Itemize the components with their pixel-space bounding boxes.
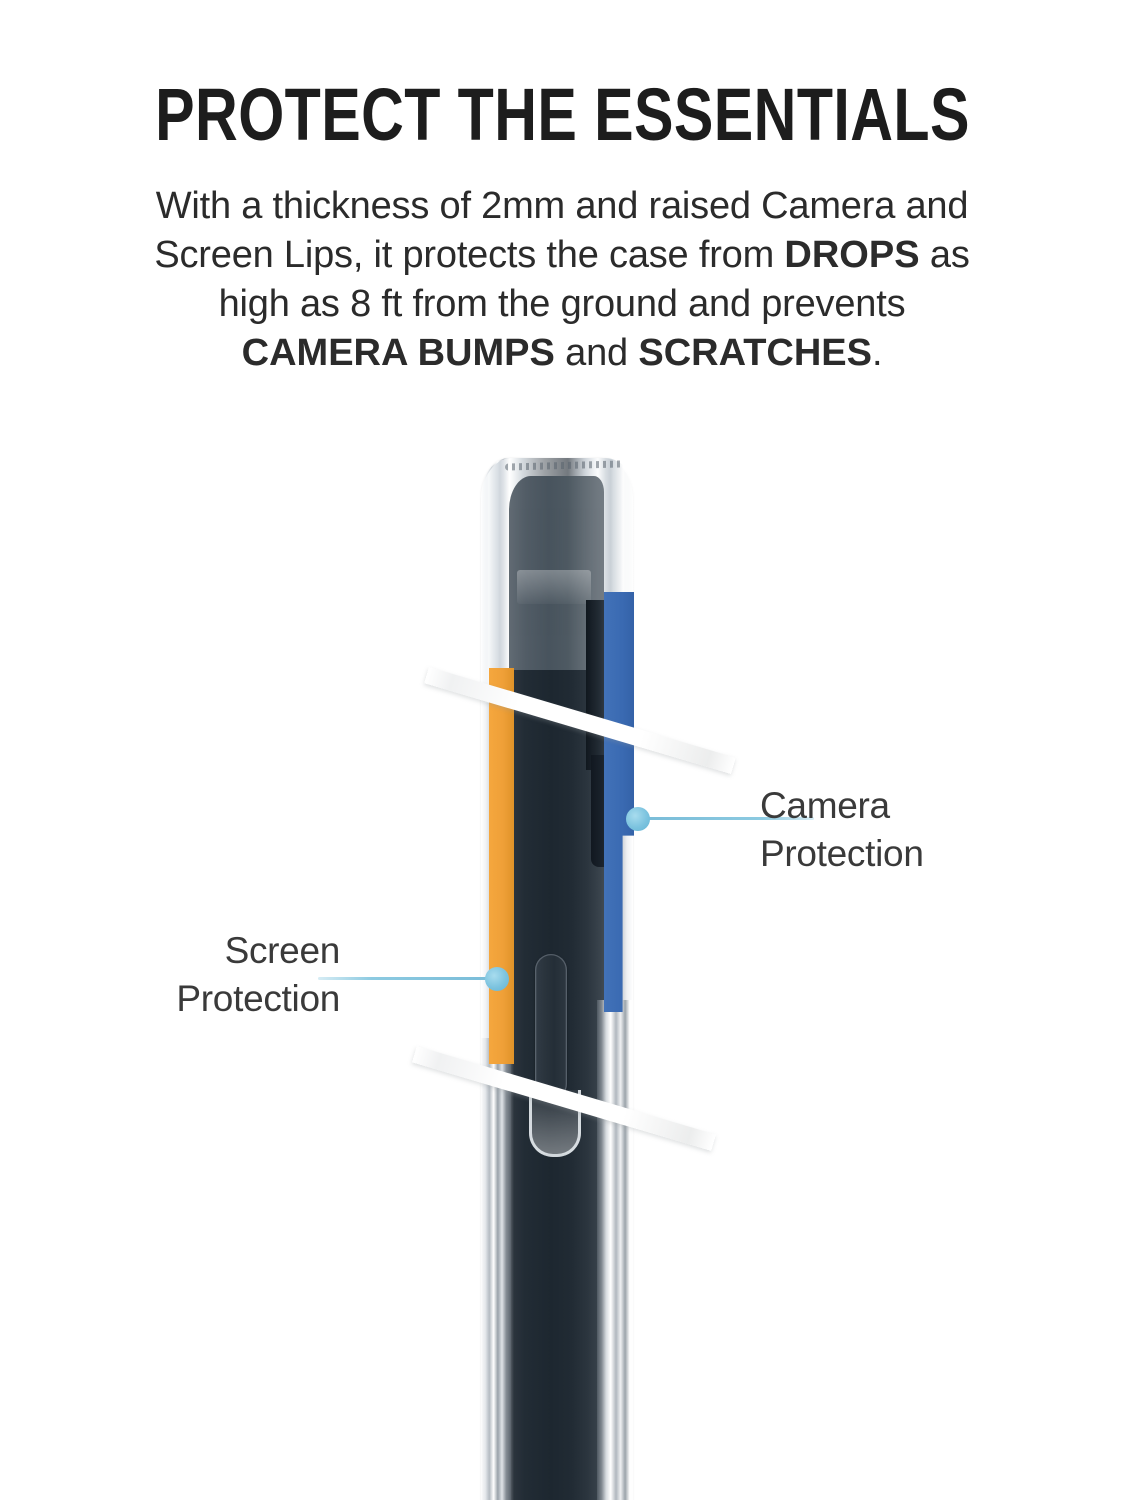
product-feature-page: PROTECT THE ESSENTIALS With a thickness … — [0, 0, 1125, 1500]
product-illustration: Camera Protection Screen Protection — [0, 0, 1125, 1500]
phone-side-button — [535, 954, 567, 1100]
screen-lip-highlight — [489, 668, 514, 1064]
screen-anchor-dot — [485, 967, 509, 991]
camera-anchor-dot — [626, 807, 650, 831]
screen-leader-line — [318, 977, 498, 980]
case-sidewall-left — [481, 1038, 511, 1500]
callout-label-screen-protection: Screen Protection — [40, 927, 340, 1023]
callout-label-camera-protection: Camera Protection — [760, 782, 1060, 878]
case-sidewall-right — [597, 1000, 635, 1500]
